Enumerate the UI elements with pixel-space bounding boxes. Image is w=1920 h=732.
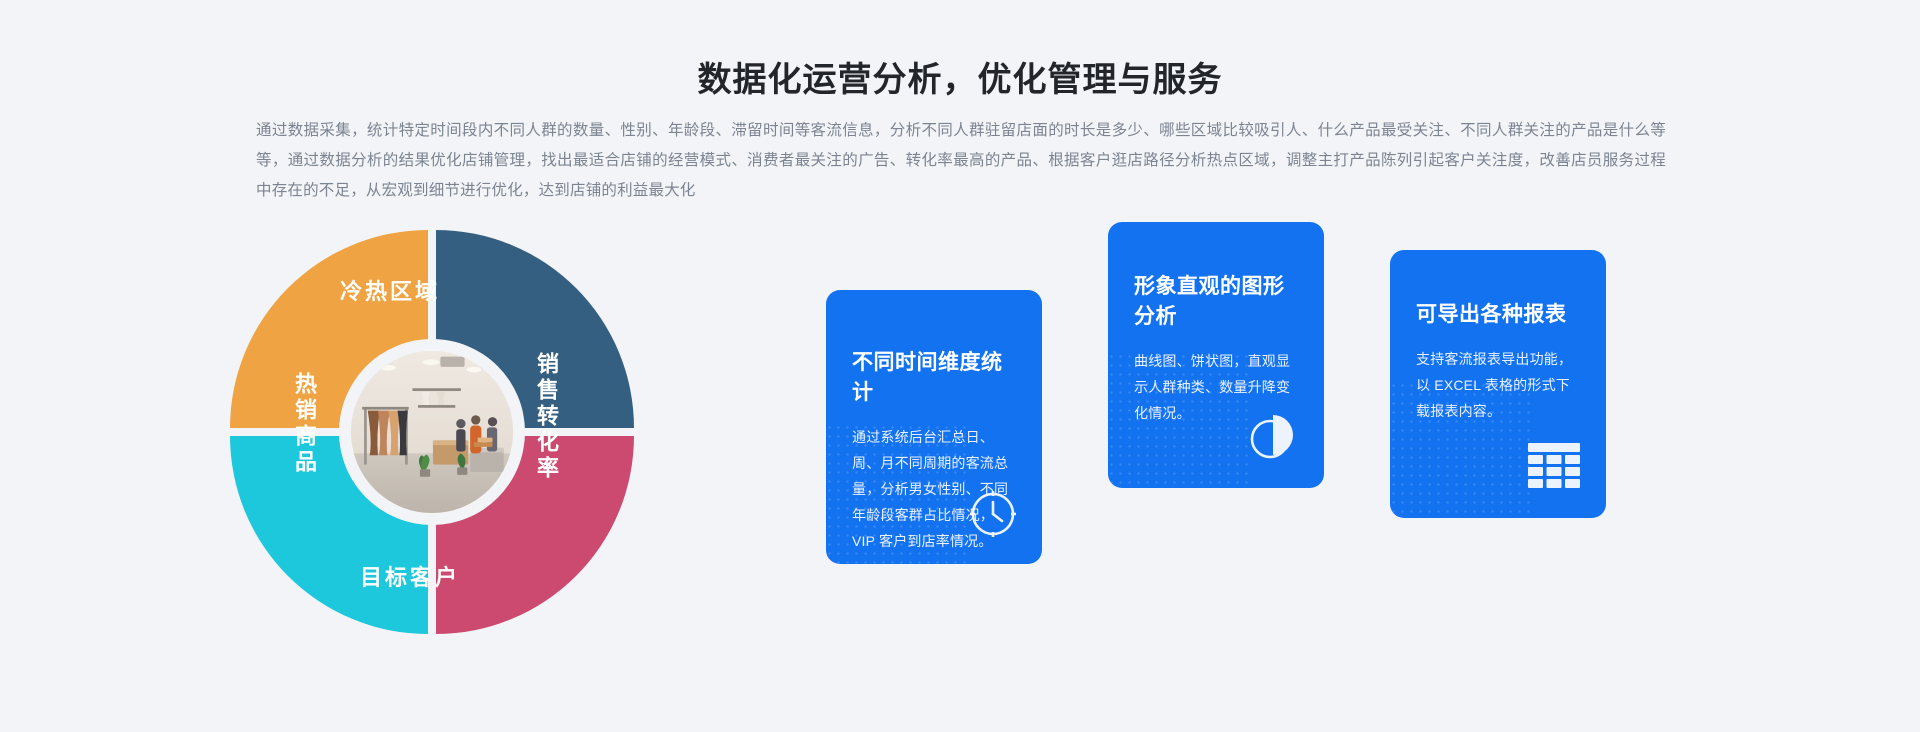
- donut-label-bottom: 目标客户: [360, 560, 460, 592]
- store-photo-illustration: [351, 351, 513, 513]
- card-title: 不同时间维度统计: [852, 346, 1016, 406]
- donut-label-top: 冷热区域: [340, 274, 440, 306]
- card-description: 支持客流报表导出功能，以 EXCEL 表格的形式下载报表内容。: [1416, 346, 1580, 424]
- intro-paragraph: 通过数据采集，统计特定时间段内不同人群的数量、性别、年龄段、滞留时间等客流信息，…: [256, 116, 1666, 206]
- store-photo: [345, 345, 519, 519]
- pie-chart-icon: [1248, 409, 1300, 466]
- feature-card-report-export[interactable]: 可导出各种报表 支持客流报表导出功能，以 EXCEL 表格的形式下载报表内容。: [1390, 250, 1606, 518]
- donut-label-left: 热销商品: [288, 372, 320, 476]
- clock-icon: [966, 487, 1020, 546]
- card-title: 可导出各种报表: [1416, 298, 1580, 328]
- donut-label-right: 销售转化率: [530, 352, 562, 482]
- card-title: 形象直观的图形分析: [1134, 270, 1298, 330]
- page-title: 数据化运营分析，优化管理与服务: [0, 52, 1920, 101]
- donut-chart: 冷热区域 销售转化率 目标客户 热销商品: [222, 222, 642, 642]
- feature-card-time-statistics[interactable]: 不同时间维度统计 通过系统后台汇总日、周、月不同周期的客流总量，分析男女性别、不…: [826, 290, 1042, 564]
- table-grid-icon: [1528, 443, 1580, 494]
- feature-card-graphic-analysis[interactable]: 形象直观的图形分析 曲线图、饼状图，直观显示人群种类、数量升降变化情况。: [1108, 222, 1324, 488]
- page-root: 数据化运营分析，优化管理与服务 通过数据采集，统计特定时间段内不同人群的数量、性…: [0, 0, 1920, 732]
